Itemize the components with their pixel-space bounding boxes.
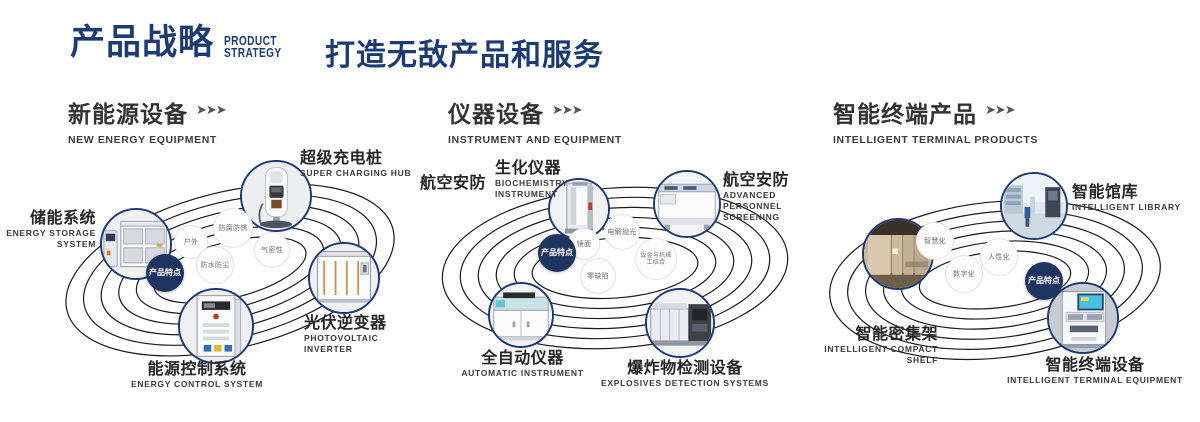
label-automatic-instrument: 全自动仪器 AUTOMATIC INSTRUMENT: [435, 348, 610, 379]
control-cabinet-image: [180, 290, 252, 362]
label-cn: 能源控制系统: [82, 359, 312, 378]
library-interior-image: [1002, 174, 1066, 238]
screening-machine-image: [655, 172, 719, 236]
feature-bubble: 数字化: [945, 255, 983, 293]
label-cn: 超级充电桩: [300, 148, 411, 167]
node-automatic-instrument[interactable]: [488, 282, 554, 348]
section-title-cn: 智能终端产品: [833, 95, 977, 129]
section-heading-instrument: 仪器设备➤➤➤ INSTRUMENT AND EQUIPMENT: [448, 95, 622, 146]
node-photovoltaic-inverter[interactable]: [308, 242, 380, 314]
feature-bubble: 钣金与机械工结合: [635, 238, 677, 280]
explosives-detector-image: [647, 290, 713, 356]
label-photovoltaic-inverter: 光伏逆变器 PHOTOVOLTAIC INVERTER: [304, 313, 420, 355]
core-badge-product-features: 产品特点: [146, 254, 184, 292]
product-strategy-infographic: 产品战略 PRODUCT STRATEGY 打造无敌产品和服务 新能源设备➤➤➤…: [0, 0, 1200, 422]
feature-bubble: 气密性: [254, 232, 290, 268]
feature-bubble: 智慧化: [916, 222, 954, 260]
node-energy-control-system[interactable]: [178, 288, 254, 364]
label-en: AUTOMATIC INSTRUMENT: [435, 368, 610, 379]
label-cn: 爆炸物检测设备: [600, 358, 770, 377]
label-explosives-detection-system: 爆炸物检测设备 EXPLOSIVES DETECTION SYSTEMS: [600, 358, 770, 389]
label-cn: 智能密集架: [798, 324, 938, 343]
label-cn: 光伏逆变器: [304, 313, 420, 332]
label-cn: 智能终端设备: [995, 355, 1195, 374]
label-en: ENERGY CONTROL SYSTEM: [82, 379, 312, 390]
page-title-block: 产品战略 PRODUCT STRATEGY: [70, 26, 298, 61]
cluster-instrument: 镜面 电解抛光 钣金与机械工结合 零缺陷 产品特点 生化仪器 BIOCHEMIS…: [420, 150, 810, 400]
section-title-cn: 新能源设备: [68, 95, 188, 129]
chevron-right-icons: ➤➤➤: [985, 102, 1015, 118]
feature-bubble: 电解抛光: [604, 214, 640, 250]
feature-bubble: 人性化: [980, 238, 1018, 276]
chevron-right-icons: ➤➤➤: [552, 102, 582, 118]
label-en: ENERGY STORAGE SYSTEM: [0, 228, 96, 250]
page-subtitle: 打造无敌产品和服务: [325, 30, 604, 74]
page-title-en-line2: STRATEGY: [224, 47, 282, 59]
automatic-analyzer-image: [490, 284, 552, 346]
section-title-cn: 仪器设备: [448, 95, 544, 129]
section-title-en: NEW ENERGY EQUIPMENT: [68, 134, 226, 146]
feature-bubble: 零缺陷: [580, 258, 616, 294]
self-service-kiosk-image: [1049, 284, 1117, 352]
label-en: INTELLIGENT TERMINAL EQUIPMENT: [995, 375, 1195, 386]
section-title-en: INTELLIGENT TERMINAL PRODUCTS: [833, 134, 1038, 146]
section-heading-intelligent-terminal: 智能终端产品➤➤➤ INTELLIGENT TERMINAL PRODUCTS: [833, 95, 1038, 146]
label-cn: 智能馆库: [1072, 182, 1181, 201]
core-badge-product-features: 产品特点: [538, 234, 576, 272]
label-intelligent-compact-shelf: 智能密集架 INTELLIGENT COMPACT SHELF: [798, 324, 938, 366]
chevron-right-icons: ➤➤➤: [196, 102, 226, 118]
cluster-intelligent-terminal: 智慧化 数字化 人性化 产品特点 智能馆库 INTELLIGENT LIBRAR…: [810, 150, 1200, 400]
section-heading-new-energy: 新能源设备➤➤➤ NEW ENERGY EQUIPMENT: [68, 95, 226, 146]
label-biochemistry-instrument: 生化仪器 BIOCHEMISTRY INSTRUMENT: [495, 158, 561, 200]
label-cn: 储能系统: [0, 208, 96, 227]
inverter-cabinet-image: [310, 244, 378, 312]
label-cn: 航空安防: [400, 173, 486, 192]
section-title-en: INSTRUMENT AND EQUIPMENT: [448, 134, 622, 146]
core-badge-product-features: 产品特点: [1025, 262, 1063, 300]
feature-bubble: 防水防尘: [196, 246, 234, 284]
label-en: EXPLOSIVES DETECTION SYSTEMS: [600, 378, 770, 389]
label-energy-control-system: 能源控制系统 ENERGY CONTROL SYSTEM: [82, 359, 312, 390]
label-en: INTELLIGENT LIBRARY: [1072, 202, 1181, 213]
label-energy-storage-system: 储能系统 ENERGY STORAGE SYSTEM: [0, 208, 96, 250]
cluster-new-energy: 户外 防腐防锈 防水防尘 气密性 产品特点 超级充电桩 SUPER CHARGI…: [40, 150, 420, 400]
label-en: SUPER CHARGING HUB: [300, 168, 411, 179]
feature-bubble: 防腐防锈: [213, 208, 253, 248]
node-explosives-detection-system[interactable]: [645, 288, 715, 358]
label-aviation-security-left: 航空安防: [400, 173, 486, 193]
label-super-charging-hub: 超级充电桩 SUPER CHARGING HUB: [300, 148, 411, 179]
label-intelligent-terminal-equipment: 智能终端设备 INTELLIGENT TERMINAL EQUIPMENT: [995, 355, 1195, 386]
page-title-cn: 产品战略: [70, 26, 214, 61]
label-en: BIOCHEMISTRY INSTRUMENT: [495, 178, 551, 200]
node-advanced-personnel-screening[interactable]: [653, 170, 721, 238]
label-cn: 全自动仪器: [435, 348, 610, 367]
label-cn: 生化仪器: [495, 158, 561, 177]
label-intelligent-library: 智能馆库 INTELLIGENT LIBRARY: [1072, 182, 1181, 213]
label-en: INTELLIGENT COMPACT SHELF: [798, 344, 938, 366]
label-en: PHOTOVOLTAIC INVERTER: [304, 333, 420, 355]
node-intelligent-library[interactable]: [1000, 172, 1068, 240]
page-title-en: PRODUCT STRATEGY: [224, 35, 282, 59]
